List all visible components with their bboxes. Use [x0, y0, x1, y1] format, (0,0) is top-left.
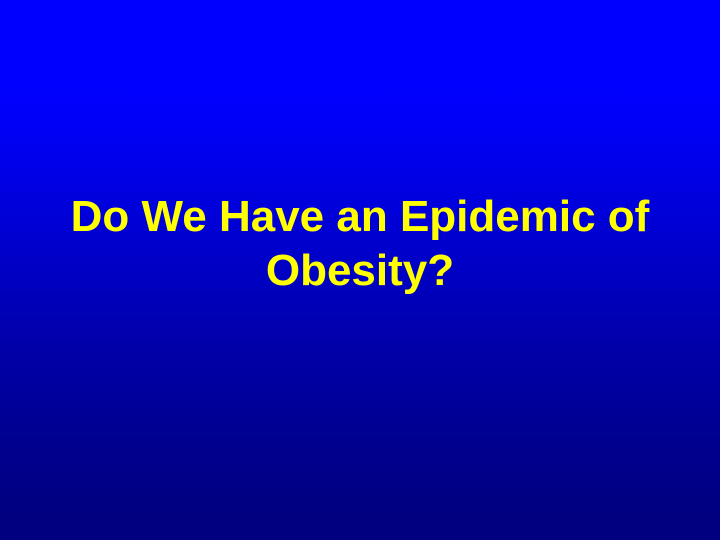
presentation-slide: Do We Have an Epidemic of Obesity?: [0, 0, 720, 540]
slide-title: Do We Have an Epidemic of Obesity?: [36, 190, 684, 298]
slide-title-line-2: Obesity?: [36, 244, 684, 298]
slide-title-line-1: Do We Have an Epidemic of: [36, 190, 684, 244]
